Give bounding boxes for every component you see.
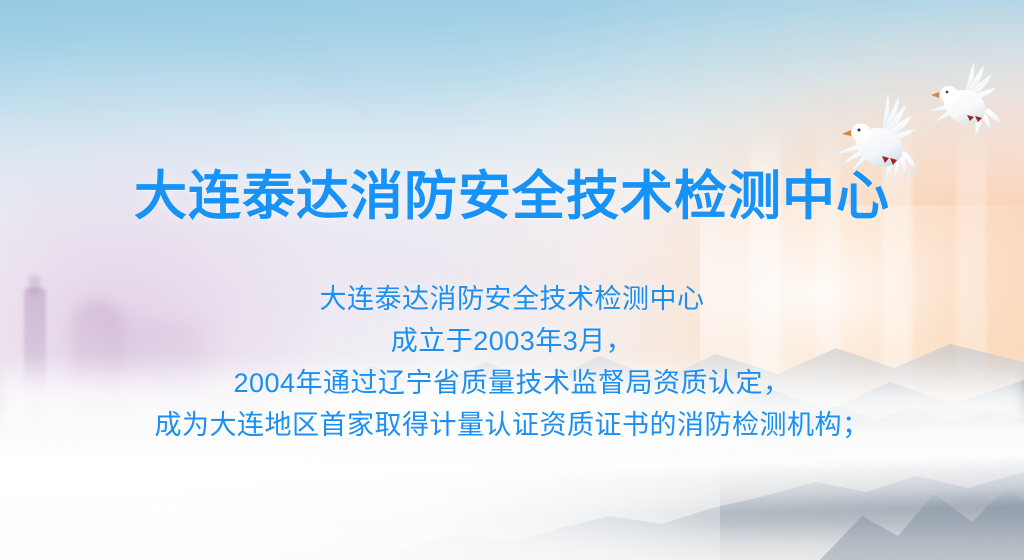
description-paragraph: 大连泰达消防安全技术检测中心 成立于2003年3月， 2004年通过辽宁省质量技…: [0, 278, 1024, 446]
page-title: 大连泰达消防安全技术检测中心: [0, 168, 1024, 226]
description-line-4: 成为大连地区首家取得计量认证资质证书的消防检测机构；: [0, 404, 1024, 446]
promotional-banner: 大连泰达消防安全技术检测中心 大连泰达消防安全技术检测中心 成立于2003年3月…: [0, 0, 1024, 560]
dove-right-icon: [922, 56, 1024, 144]
description-line-1: 大连泰达消防安全技术检测中心: [0, 278, 1024, 320]
description-line-2: 成立于2003年3月，: [0, 320, 1024, 362]
description-line-3: 2004年通过辽宁省质量技术监督局资质认定，: [0, 362, 1024, 404]
